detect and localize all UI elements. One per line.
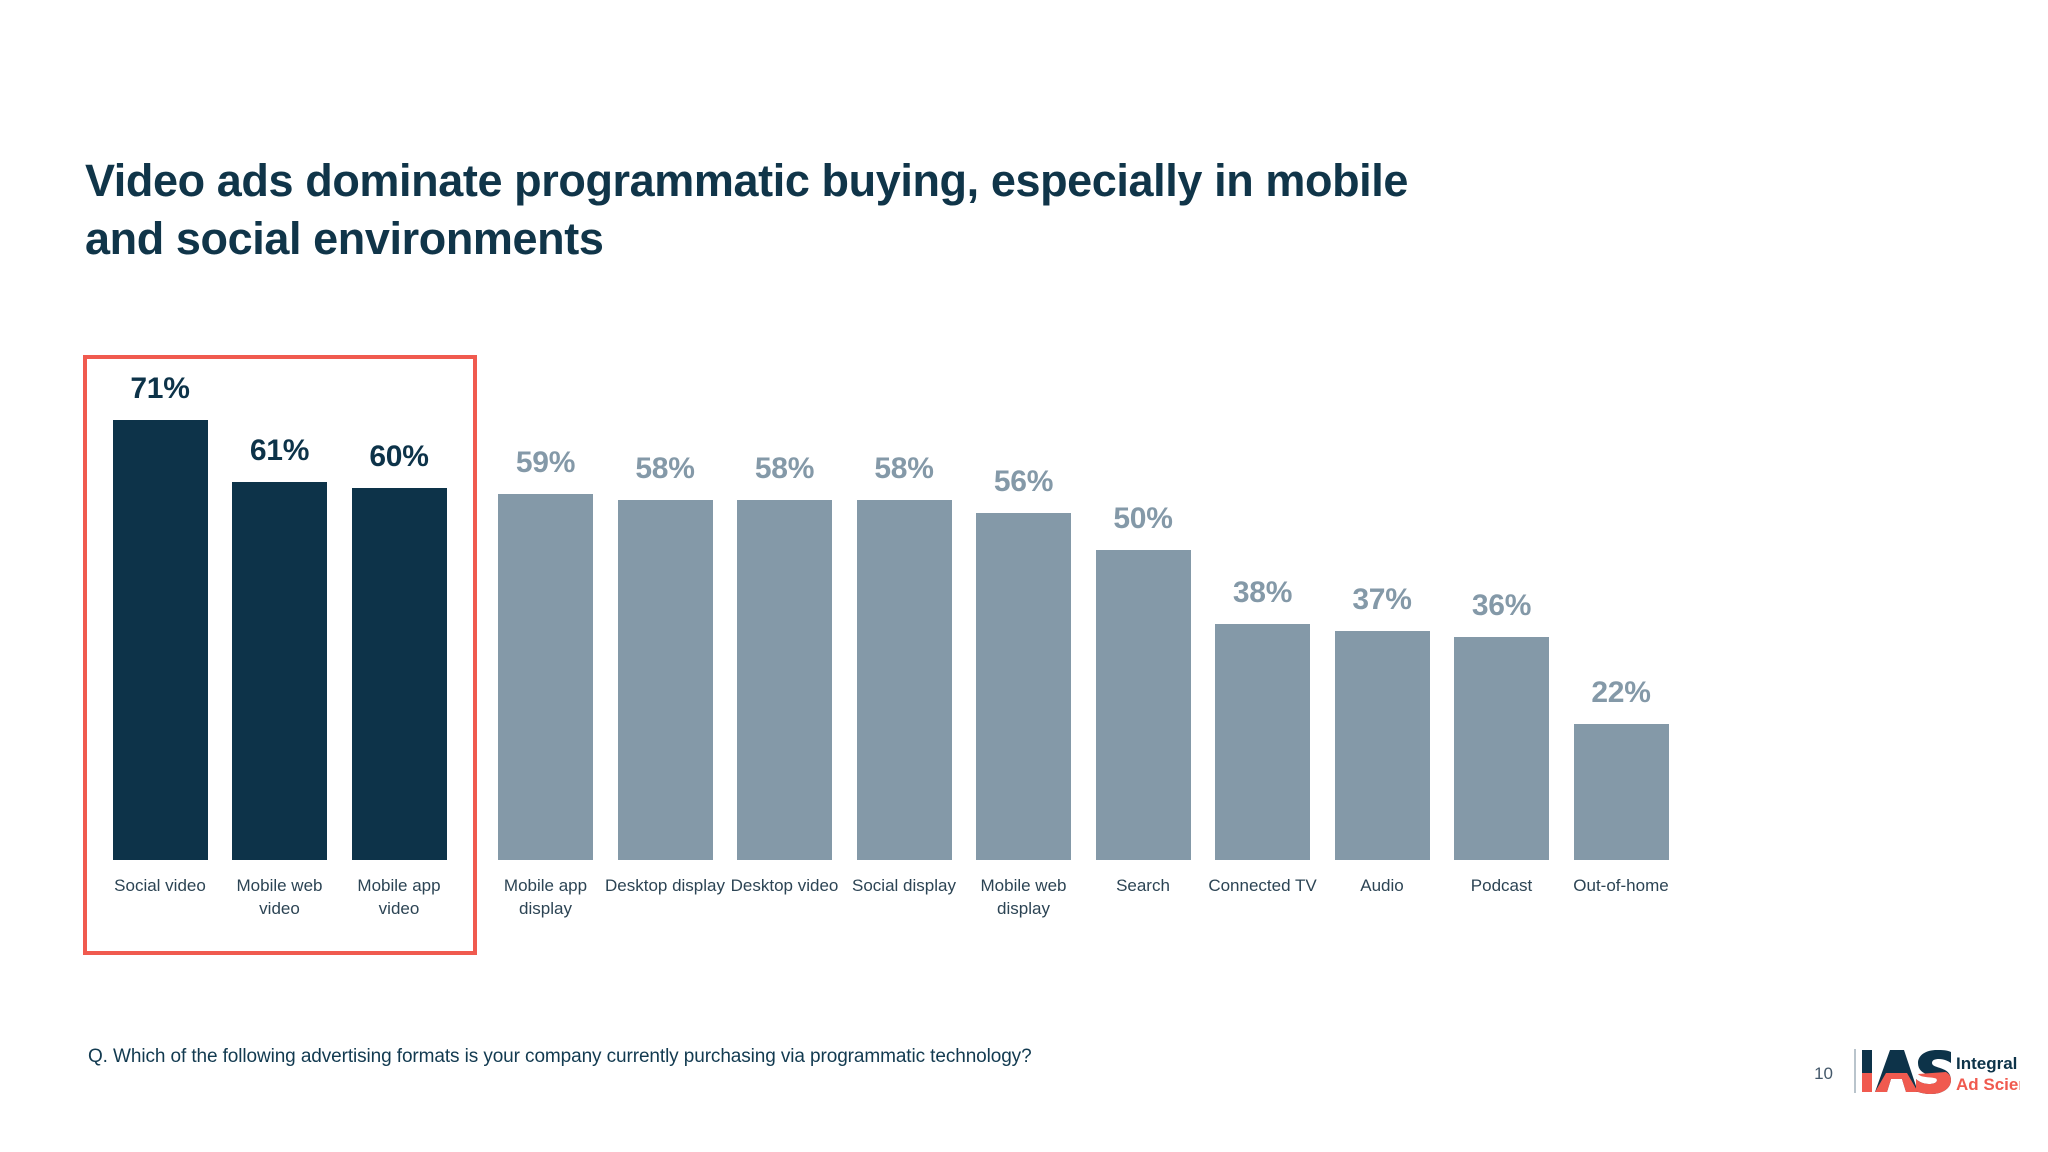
survey-question-footnote: Q. Which of the following advertising fo… (88, 1046, 1032, 1068)
page-number: 10 (1814, 1064, 1833, 1084)
logo-text-line2: Ad Science (1956, 1075, 2020, 1094)
bar-value-label: 56% (994, 465, 1053, 499)
bar (1335, 631, 1430, 860)
bar-column: 50%Search (1096, 0, 1191, 860)
bar (1454, 637, 1549, 860)
bar-value-label: 60% (369, 440, 428, 474)
ias-logo-svg: Integral Ad Science (1860, 1046, 2020, 1098)
bar-value-label: 71% (130, 372, 189, 406)
footer-divider (1854, 1049, 1856, 1093)
bar (232, 482, 327, 860)
bar (618, 500, 713, 860)
bar (1096, 550, 1191, 860)
bar (737, 500, 832, 860)
bar-value-label: 50% (1113, 502, 1172, 536)
ias-logo: Integral Ad Science (1860, 1046, 2020, 1098)
bar-column: 60%Mobile app video (352, 0, 447, 860)
bar-column: 58%Desktop video (737, 0, 832, 860)
bar (1215, 624, 1310, 860)
bar (352, 488, 447, 860)
bar (498, 494, 593, 860)
slide: Video ads dominate programmatic buying, … (0, 0, 2048, 1152)
bar-value-label: 36% (1472, 589, 1531, 623)
bar-value-label: 38% (1233, 576, 1292, 610)
bar (857, 500, 952, 860)
bar-column: 58%Social display (857, 0, 952, 860)
bar (1574, 724, 1669, 860)
bar-column: 37%Audio (1335, 0, 1430, 860)
bar-value-label: 59% (516, 446, 575, 480)
bar-column: 61%Mobile web video (232, 0, 327, 860)
bar-value-label: 58% (874, 452, 933, 486)
bar-column: 58%Desktop display (618, 0, 713, 860)
bar-column: 56%Mobile web display (976, 0, 1071, 860)
bar-chart: 71%Social video61%Mobile web video60%Mob… (0, 0, 2048, 1152)
bar-value-label: 61% (250, 434, 309, 468)
bar-column: 38%Connected TV (1215, 0, 1310, 860)
bar-value-label: 37% (1352, 583, 1411, 617)
bar-column: 71%Social video (113, 0, 208, 860)
bar-value-label: 58% (755, 452, 814, 486)
bar-column: 22%Out-of-home (1574, 0, 1669, 860)
bar-category-label: Mobile app video (319, 875, 479, 920)
bar-category-label: Out-of-home (1541, 875, 1701, 898)
bar (113, 420, 208, 860)
bar-column: 59%Mobile app display (498, 0, 593, 860)
bar-value-label: 58% (635, 452, 694, 486)
bar (976, 513, 1071, 860)
logo-text-line1: Integral (1956, 1054, 2017, 1073)
bar-column: 36%Podcast (1454, 0, 1549, 860)
bar-value-label: 22% (1591, 676, 1650, 710)
